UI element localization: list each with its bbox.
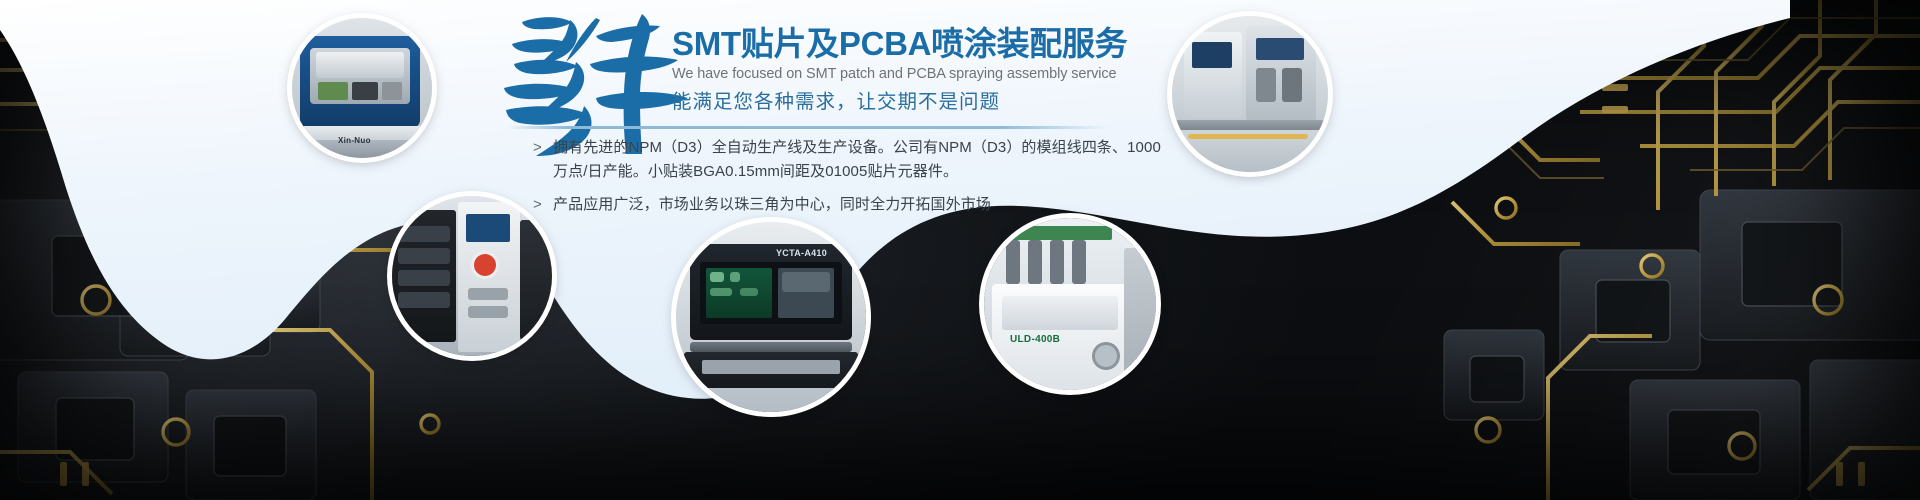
- feature-bullet-list: > 拥有先进的NPM（D3）全自动生产线及生产设备。公司有NPM（D3）的模组线…: [533, 136, 1173, 226]
- bullet-text: 拥有先进的NPM（D3）全自动生产线及生产设备。公司有NPM（D3）的模组线四条…: [553, 136, 1173, 184]
- photo-caption: YCTA-A410: [776, 248, 827, 258]
- photo-aoi-inspection-machine: YCTA-A410: [676, 222, 866, 412]
- photo-caption: Xin-Nuo: [338, 136, 371, 145]
- list-item: > 拥有先进的NPM（D3）全自动生产线及生产设备。公司有NPM（D3）的模组线…: [533, 136, 1173, 184]
- section-divider: [508, 126, 1108, 129]
- smt-service-banner: SMT贴片及PCBA喷涂装配服务 We have focused on SMT …: [0, 0, 1920, 500]
- brush-calligraphy-duonian: [492, 6, 682, 146]
- chinese-subtitle: 能满足您各种需求，让交期不是问题: [672, 88, 1212, 116]
- bullet-marker-icon: >: [533, 136, 553, 160]
- photo-loader-machine: ULD-400B: [984, 218, 1156, 390]
- english-subtitle: We have focused on SMT patch and PCBA sp…: [672, 65, 1212, 84]
- photo-caption: ULD-400B: [1010, 334, 1060, 345]
- bullet-text: 产品应用广泛，市场业务以珠三角为中心，同时全力开拓国外市场: [553, 193, 991, 217]
- list-item: > 产品应用广泛，市场业务以珠三角为中心，同时全力开拓国外市场: [533, 193, 1173, 217]
- photo-smt-printer-machine: Xin-Nuo: [292, 18, 432, 158]
- photo-smt-production-line: [1172, 16, 1328, 172]
- photo-chip-mounter-machine: [392, 196, 552, 356]
- banner-content: SMT贴片及PCBA喷涂装配服务 We have focused on SMT …: [0, 0, 1920, 500]
- headline-block: SMT贴片及PCBA喷涂装配服务 We have focused on SMT …: [672, 24, 1212, 116]
- page-title: SMT贴片及PCBA喷涂装配服务: [672, 24, 1212, 64]
